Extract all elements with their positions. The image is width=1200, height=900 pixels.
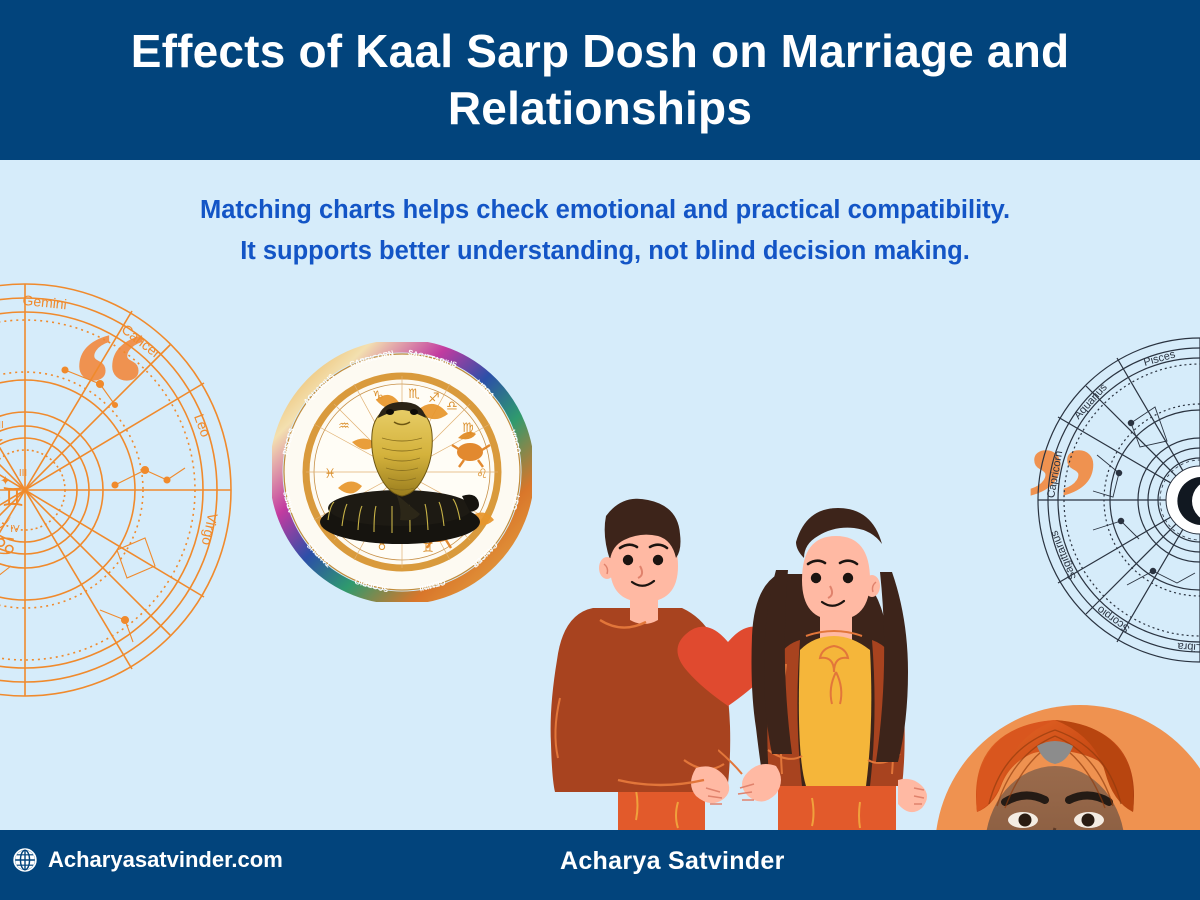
- quote-text: Matching charts helps check emotional an…: [195, 190, 1015, 273]
- svg-text:♓: ♓: [324, 467, 336, 482]
- svg-text:Scorpio: Scorpio: [1095, 603, 1132, 635]
- svg-text:♌: ♌: [476, 467, 488, 482]
- svg-text:Virgo: Virgo: [199, 512, 221, 547]
- acharya-portrait: [905, 708, 1200, 830]
- svg-text:✦: ✦: [0, 493, 1, 505]
- woman-figure: [738, 508, 927, 830]
- svg-text:♋: ♋: [0, 532, 17, 562]
- couple-illustration: [500, 450, 930, 830]
- right-zodiac-wheel: Pisces Aquarius Capricorn Sagittarius Sc…: [1035, 335, 1200, 665]
- poster-body: Aries Taurus Gemini Cancer Leo Virgo ♈ ♉…: [0, 160, 1200, 830]
- globe-icon: [12, 847, 38, 873]
- svg-text:✦: ✦: [0, 473, 11, 488]
- poster-header: Effects of Kaal Sarp Dosh on Marriage an…: [0, 0, 1200, 160]
- left-zodiac-wheel: Aries Taurus Gemini Cancer Leo Virgo ♈ ♉…: [0, 280, 235, 700]
- svg-text:Capricorn: Capricorn: [1045, 450, 1065, 499]
- svg-text:Sagittarius: Sagittarius: [1048, 528, 1079, 581]
- svg-text:Libra: Libra: [1176, 640, 1200, 654]
- svg-text:III: III: [19, 468, 27, 479]
- svg-text:Pisces: Pisces: [1142, 348, 1177, 369]
- page-title: Effects of Kaal Sarp Dosh on Marriage an…: [55, 23, 1145, 138]
- svg-text:♒: ♒: [338, 419, 350, 434]
- footer-website-label: Acharyasatvinder.com: [48, 847, 283, 873]
- svg-text:Gemini: Gemini: [22, 292, 68, 313]
- svg-text:II: II: [0, 420, 4, 431]
- svg-text:Aquarius: Aquarius: [1072, 381, 1110, 422]
- svg-text:♎: ♎: [446, 399, 458, 414]
- svg-text:♐: ♐: [428, 391, 440, 406]
- footer-brand-name: Acharya Satvinder: [560, 847, 785, 876]
- svg-text:♏: ♏: [408, 387, 420, 402]
- cobra-zodiac-wheel: SAGITTARIUS CAPRICORN AQUARIUS PISCES AR…: [272, 342, 532, 602]
- poster-canvas: Aries Taurus Gemini Cancer Leo Virgo ♈ ♉…: [0, 0, 1200, 900]
- footer-website-link[interactable]: Acharyasatvinder.com: [12, 847, 283, 873]
- svg-text:♉: ♉: [0, 435, 5, 465]
- svg-text:IV: IV: [10, 524, 20, 535]
- poster-footer: Acharyasatvinder.com Acharya Satvinder: [0, 830, 1200, 900]
